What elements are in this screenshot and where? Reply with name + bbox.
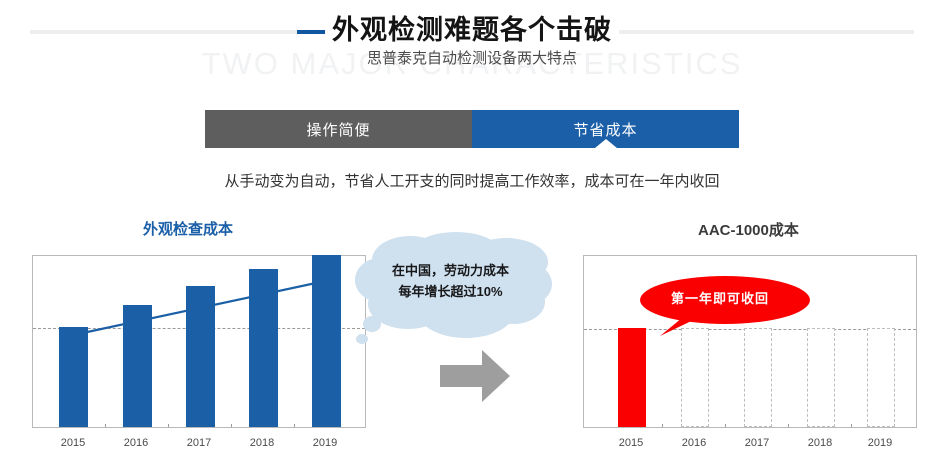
cloud-text-line-1: 在中国，劳动力成本 (348, 260, 553, 281)
right-axis-label-2017: 2017 (745, 437, 769, 449)
right-chart-title: AAC-1000成本 (698, 219, 799, 240)
right-axis-label-2018: 2018 (808, 437, 832, 449)
bar-2017 (186, 286, 215, 427)
bar-aac-2016-ghost (681, 328, 709, 427)
tab-active-notch-icon (595, 139, 617, 148)
tab-save-cost-label: 节省成本 (573, 119, 637, 140)
left-bar-chart (32, 255, 366, 428)
tab-easy-operation-label: 操作简便 (306, 119, 370, 140)
tick-r1 (662, 424, 663, 427)
bar-aac-2017-ghost (744, 328, 772, 427)
right-axis-label-2016: 2016 (682, 437, 706, 449)
bar-2015 (59, 327, 88, 427)
tab-easy-operation[interactable]: 操作简便 (205, 110, 472, 148)
cloud-callout-text: 在中国，劳动力成本 每年增长超过10% (348, 260, 553, 302)
red-callout: 第一年即可收回 (630, 274, 810, 336)
lead-text: 从手动变为自动，节省人工开支的同时提高工作效率，成本可在一年内收回 (0, 170, 944, 191)
tick-1 (105, 424, 106, 427)
left-axis-label-2018: 2018 (250, 437, 274, 449)
left-chart-title: 外观检查成本 (143, 218, 233, 239)
right-chart-axis-labels: 2015 2016 2017 2018 2019 (583, 437, 917, 457)
bar-aac-2019-ghost (867, 328, 895, 427)
tick-4 (294, 424, 295, 427)
cloud-callout: 在中国，劳动力成本 每年增长超过10% (348, 232, 553, 350)
page-subtitle: 思普泰克自动检测设备两大特点 (0, 47, 944, 68)
left-axis-label-2019: 2019 (313, 437, 337, 449)
bar-2016 (123, 305, 152, 427)
slide-canvas: TWO MAJOR CHARACTERISTICS 外观检测难题各个击破 思普泰… (0, 0, 944, 467)
right-axis-label-2019: 2019 (868, 437, 892, 449)
tick-r2 (725, 424, 726, 427)
left-axis-label-2015: 2015 (61, 437, 85, 449)
bar-aac-2018-ghost (807, 328, 835, 427)
right-axis-label-2015: 2015 (619, 437, 643, 449)
left-axis-label-2016: 2016 (124, 437, 148, 449)
process-arrow-icon (438, 348, 512, 404)
left-chart-axis-labels: 2015 2016 2017 2018 2019 (32, 437, 366, 457)
tick-r4 (851, 424, 852, 427)
tab-save-cost[interactable]: 节省成本 (472, 110, 739, 148)
tab-bar: 操作简便 节省成本 (205, 110, 739, 148)
bar-2018 (249, 269, 278, 427)
bar-2019 (312, 255, 341, 427)
cloud-text-line-2: 每年增长超过10% (348, 281, 553, 302)
red-callout-text: 第一年即可收回 (630, 288, 810, 307)
tick-3 (231, 424, 232, 427)
left-chart-bars (33, 256, 365, 427)
page-title: 外观检测难题各个击破 (0, 8, 944, 47)
bar-aac-2015 (618, 328, 646, 427)
tick-r3 (788, 424, 789, 427)
left-axis-label-2017: 2017 (187, 437, 211, 449)
tick-2 (168, 424, 169, 427)
